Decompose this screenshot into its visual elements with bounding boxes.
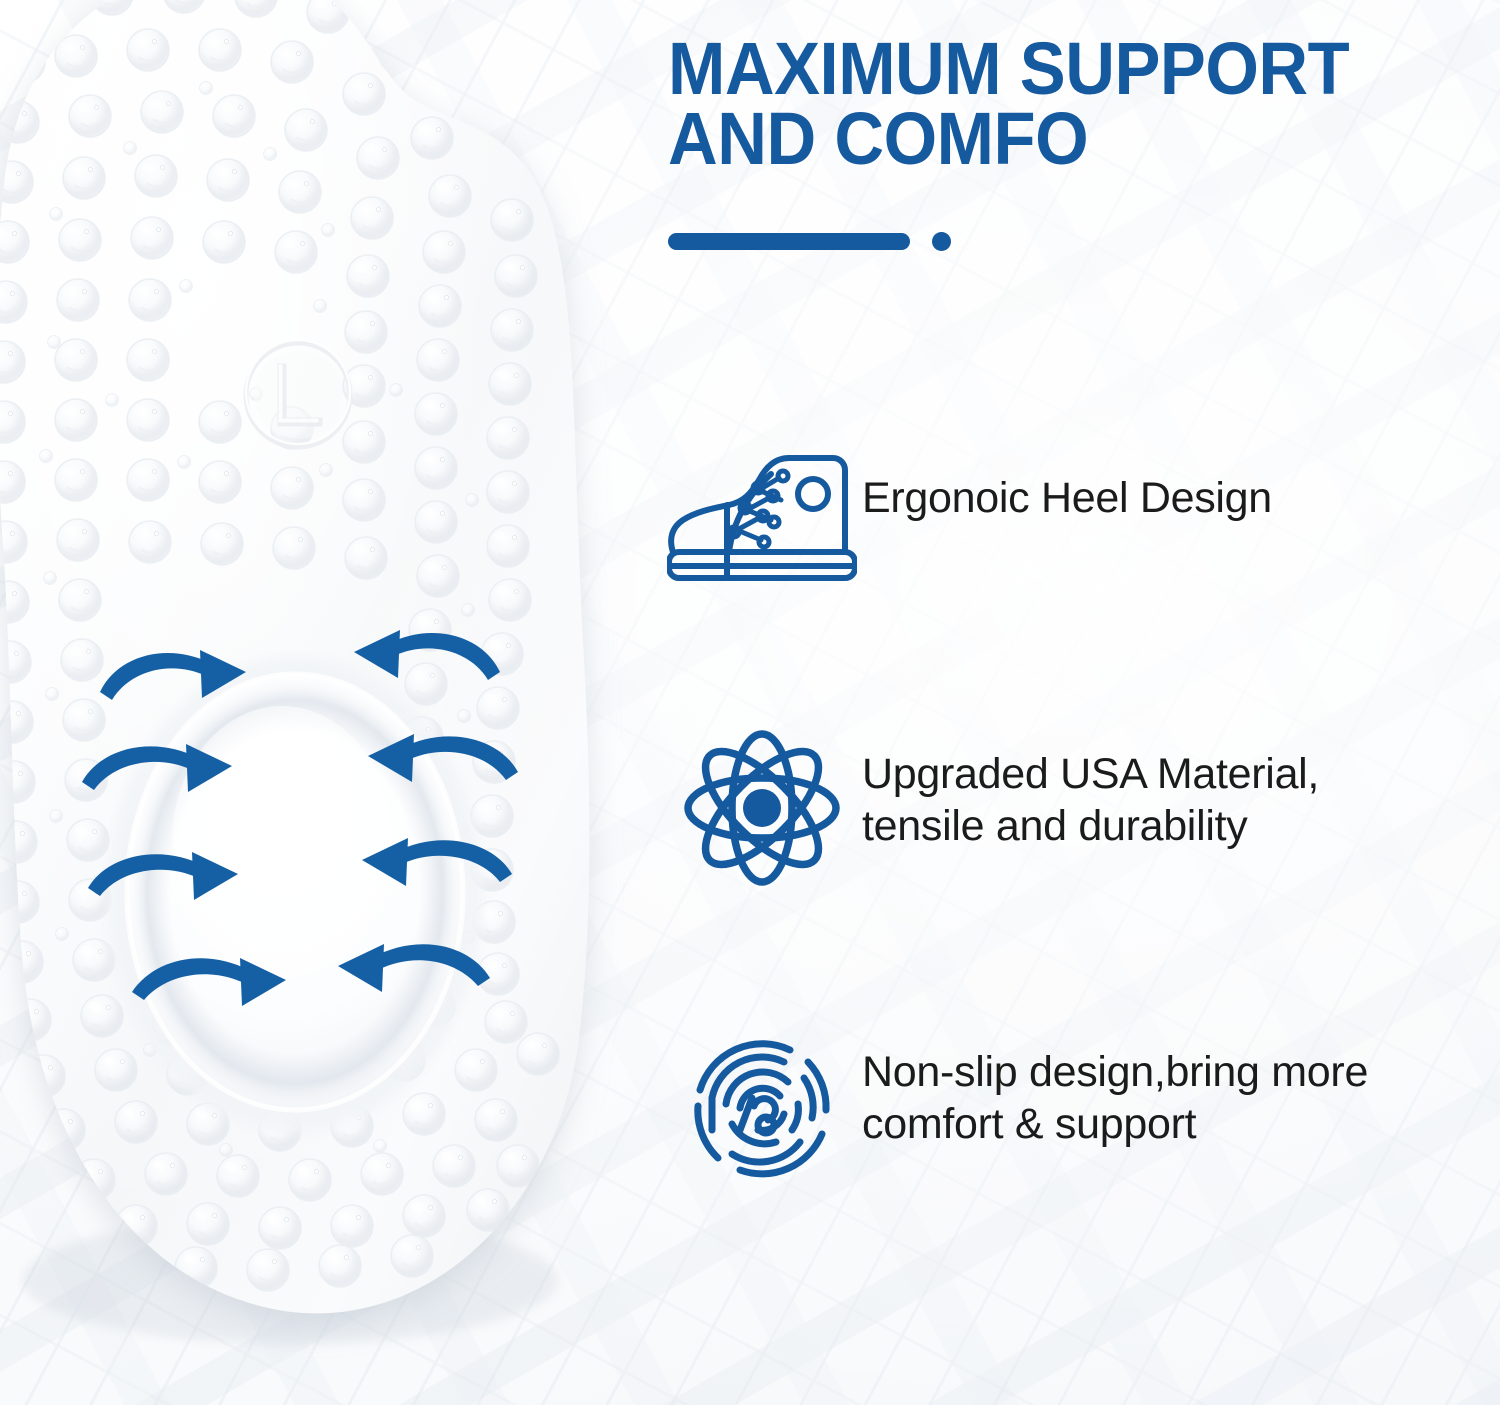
feature-item-usa-material: Upgraded USA Material, tensile and durab…	[662, 726, 1492, 890]
fingerprint-icon	[662, 1028, 862, 1188]
marketing-copy-column: MAXIMUM SUPPORT AND COMFO	[658, 0, 1500, 1405]
feature-label: Upgraded USA Material, tensile and durab…	[862, 726, 1492, 853]
heel-cup	[107, 657, 483, 1133]
feature-item-non-slip: Non-slip design,bring more comfort & sup…	[662, 1028, 1492, 1188]
title-divider	[668, 232, 951, 251]
page-title: MAXIMUM SUPPORT AND COMFO	[668, 34, 1421, 175]
feature-item-ergonomic-heel: Ergonoic Heel Design	[662, 448, 1492, 584]
gel-heel-insole-photo	[0, 0, 640, 1390]
divider-bar	[668, 233, 910, 250]
sneaker-icon	[662, 448, 862, 584]
atom-icon	[662, 726, 862, 890]
divider-dot	[932, 232, 951, 251]
feature-label: Non-slip design,bring more comfort & sup…	[862, 1028, 1492, 1151]
left-foot-marking	[246, 340, 350, 447]
feature-label: Ergonoic Heel Design	[862, 448, 1492, 524]
image-canvas: MAXIMUM SUPPORT AND COMFO	[0, 0, 1500, 1405]
